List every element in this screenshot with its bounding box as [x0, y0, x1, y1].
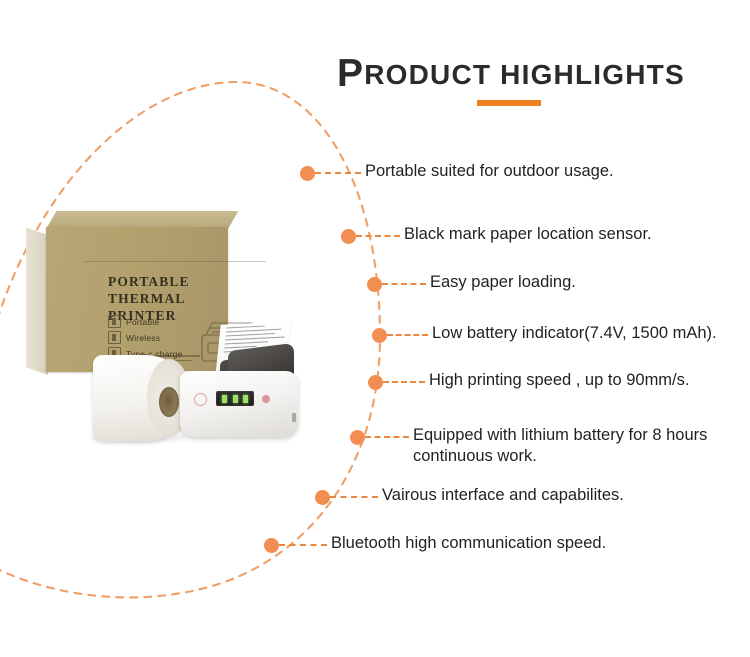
- highlight-dot: [350, 430, 365, 445]
- highlight-text: Portable suited for outdoor usage.: [365, 161, 614, 182]
- charging-port: [292, 413, 296, 422]
- highlight-text: Black mark paper location sensor.: [404, 224, 652, 245]
- highlight-text: Bluetooth high communication speed.: [331, 533, 606, 554]
- highlight-text: Equipped with lithium battery for 8 hour…: [413, 425, 707, 467]
- highlight-item-lithium-battery: Equipped with lithium battery for 8 hour…: [350, 425, 707, 467]
- highlight-text: Low battery indicator(7.4V, 1500 mAh).: [432, 323, 717, 344]
- product-highlights-infographic: PRODUCT HIGHLIGHTS PORTABLE THERMAL PRIN…: [0, 0, 750, 657]
- highlight-leader-line: [383, 381, 425, 385]
- highlight-dot: [372, 328, 387, 343]
- highlight-leader-line: [387, 334, 428, 338]
- page-title-rest: RODUCT HIGHLIGHTS: [364, 59, 685, 90]
- highlight-leader-line: [382, 283, 426, 287]
- highlight-item-portable: Portable suited for outdoor usage.: [300, 161, 614, 182]
- status-led-panel: [216, 391, 254, 406]
- highlight-dot: [341, 229, 356, 244]
- battery-icon: [108, 315, 121, 328]
- carton-feature-wireless: Wireless: [108, 331, 182, 344]
- highlight-leader-line: [365, 436, 409, 440]
- highlight-dot: [315, 490, 330, 505]
- highlight-item-paper-loading: Easy paper loading.: [367, 272, 576, 293]
- power-icon: [194, 393, 207, 406]
- highlight-item-print-speed: High printing speed , up to 90mm/s.: [368, 370, 689, 391]
- status-led: [243, 395, 248, 403]
- status-led: [233, 395, 238, 403]
- highlight-dot: [367, 277, 382, 292]
- highlight-item-black-mark: Black mark paper location sensor.: [341, 224, 652, 245]
- status-led: [222, 395, 227, 403]
- thermal-paper-roll: [93, 355, 189, 441]
- product-photo: PORTABLE THERMAL PRINTER Portable Wirele…: [8, 205, 318, 455]
- highlight-item-bluetooth: Bluetooth high communication speed.: [264, 533, 606, 554]
- status-indicator: [262, 395, 270, 403]
- title-underline-accent: [477, 100, 541, 106]
- highlight-leader-line: [356, 235, 400, 239]
- highlight-text: Vairous interface and capabilites.: [382, 485, 624, 506]
- wireless-icon: [108, 331, 121, 344]
- highlight-item-interfaces: Vairous interface and capabilites.: [315, 485, 624, 506]
- highlight-dot: [264, 538, 279, 553]
- printer-body: [180, 371, 298, 437]
- carton-feature-label: Portable: [126, 317, 159, 327]
- highlight-text: Easy paper loading.: [430, 272, 576, 293]
- page-title-block: PRODUCT HIGHLIGHTS: [337, 52, 737, 112]
- highlight-dot: [300, 166, 315, 181]
- highlight-leader-line: [315, 172, 361, 176]
- highlight-text: High printing speed , up to 90mm/s.: [429, 370, 689, 391]
- page-title: PRODUCT HIGHLIGHTS: [337, 52, 737, 98]
- carton-side-flap: [26, 227, 48, 375]
- highlight-dot: [368, 375, 383, 390]
- carton-feature-label: Wireless: [126, 333, 160, 343]
- page-title-initial: P: [337, 52, 364, 95]
- carton-seam: [84, 261, 266, 262]
- portable-thermal-printer: [176, 337, 304, 441]
- highlight-item-battery-indicator: Low battery indicator(7.4V, 1500 mAh).: [372, 323, 717, 344]
- carton-feature-portable: Portable: [108, 315, 182, 328]
- highlight-leader-line: [279, 544, 327, 548]
- highlight-leader-line: [330, 496, 378, 500]
